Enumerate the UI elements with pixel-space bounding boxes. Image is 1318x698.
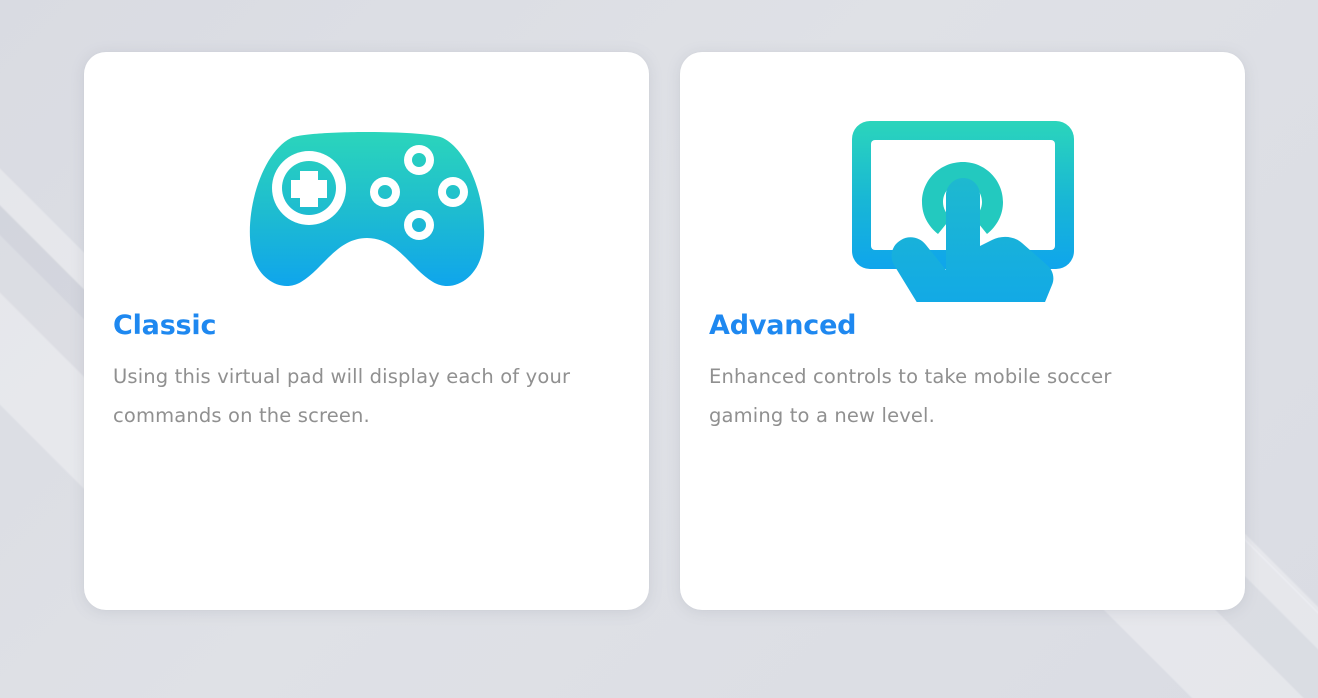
- control-mode-card-advanced[interactable]: Advanced Enhanced controls to take mobil…: [680, 52, 1245, 610]
- card-title: Advanced: [709, 310, 1216, 341]
- touchscreen-tap-icon: [849, 118, 1077, 302]
- control-mode-card-list: Classic Using this virtual pad will disp…: [84, 52, 1245, 610]
- touchscreen-tap-icon-container: [680, 110, 1245, 310]
- control-mode-card-classic[interactable]: Classic Using this virtual pad will disp…: [84, 52, 649, 610]
- card-text-block-classic: Classic Using this virtual pad will disp…: [84, 310, 649, 436]
- gamepad-icon-container: [84, 110, 649, 310]
- card-description: Using this virtual pad will display each…: [113, 358, 618, 436]
- card-text-block-advanced: Advanced Enhanced controls to take mobil…: [680, 310, 1245, 436]
- card-description: Enhanced controls to take mobile soccer …: [709, 358, 1129, 436]
- card-title: Classic: [113, 310, 620, 341]
- gamepad-icon: [245, 130, 489, 290]
